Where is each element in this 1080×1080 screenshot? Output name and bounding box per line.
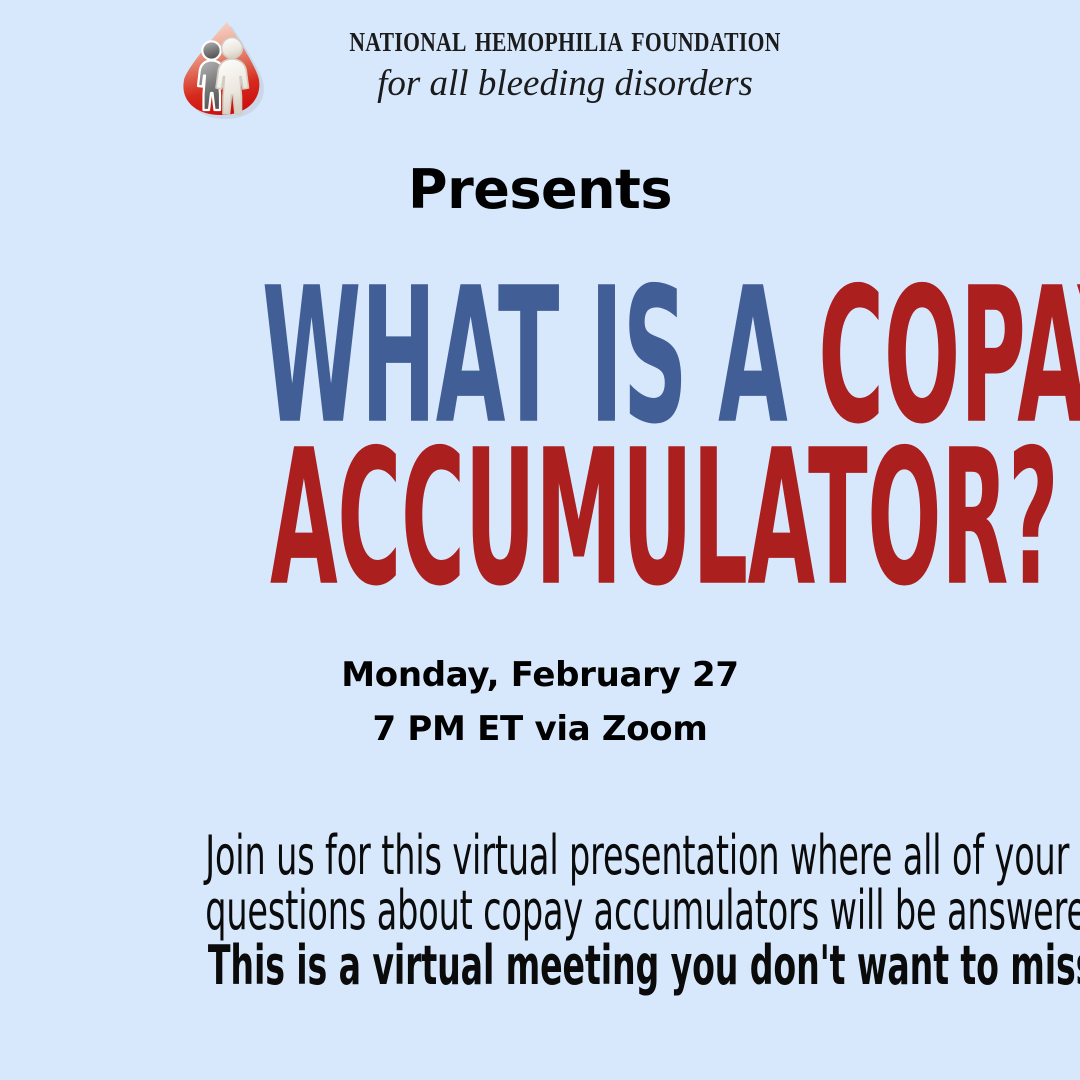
body-line-1: Join us for this virtual presentation wh… bbox=[205, 828, 875, 883]
logo-wordmark: National Hemophilia Foundation for all b… bbox=[280, 17, 850, 105]
body-line-2: questions about copay accumulators will … bbox=[205, 883, 875, 938]
headline: WHAT IS A COPAY ACCUMULATOR? bbox=[0, 271, 1080, 595]
flyer-canvas: National Hemophilia Foundation for all b… bbox=[0, 0, 1080, 1080]
organization-tagline: for all bleeding disorders bbox=[280, 63, 850, 105]
body-copy: Join us for this virtual presentation wh… bbox=[0, 828, 1080, 993]
organization-name: National Hemophilia Foundation bbox=[337, 17, 793, 61]
event-date: Monday, February 27 bbox=[0, 648, 1080, 702]
headline-line-2: ACCUMULATOR? bbox=[270, 433, 810, 606]
event-time: 7 PM ET via Zoom bbox=[0, 702, 1080, 756]
blood-droplet-with-two-people-icon bbox=[176, 19, 274, 119]
body-line-3-call-to-action: This is a virtual meeting you don't want… bbox=[208, 938, 872, 993]
organization-logo: National Hemophilia Foundation for all b… bbox=[0, 0, 1080, 125]
event-details: Monday, February 27 7 PM ET via Zoom bbox=[0, 648, 1080, 756]
presents-label: Presents bbox=[0, 160, 1080, 220]
